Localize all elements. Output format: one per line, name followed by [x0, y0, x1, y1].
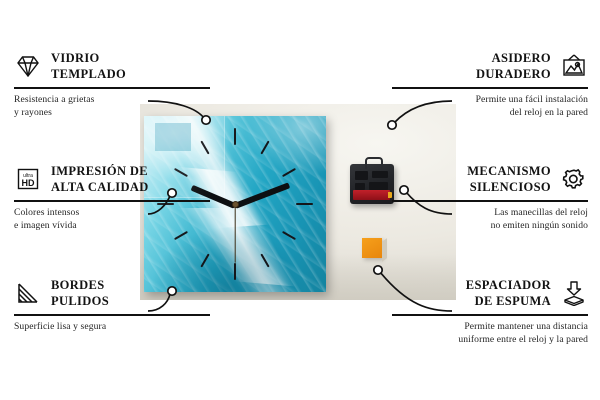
feature-title: IMPRESIÓN DE ALTA CALIDAD	[51, 163, 149, 195]
foam-spacer-piece	[362, 238, 382, 258]
diamond-icon	[14, 53, 42, 79]
foam-spacer-arrow-icon	[560, 280, 588, 306]
clock-tick-3	[296, 203, 313, 205]
clock-mechanism	[350, 164, 394, 204]
feature-title: ESPACIADOR DE ESPUMA	[466, 277, 551, 309]
feature-title: ASIDERO DURADERO	[476, 50, 551, 82]
svg-text:HD: HD	[22, 178, 35, 188]
feature-description: Las manecillas del reloj no emiten ningú…	[392, 207, 588, 233]
divider	[392, 314, 588, 316]
feature-title: MECANISMO SILENCIOSO	[467, 163, 551, 195]
clock-tick-12	[234, 128, 236, 145]
mechanism-battery	[353, 190, 390, 200]
gear-icon	[560, 166, 588, 192]
divider	[14, 314, 210, 316]
feature-espaciador-espuma[interactable]: ESPACIADOR DE ESPUMA Permite mantener un…	[392, 277, 588, 346]
polished-edges-icon	[14, 280, 42, 306]
divider	[14, 87, 210, 89]
infographic-canvas: VIDRIO TEMPLADO Resistencia a grietas y …	[0, 0, 600, 400]
clock-second-hand	[234, 205, 235, 263]
feature-description: Superficie lisa y segura	[14, 321, 210, 334]
ultra-hd-badge-icon: ultra HD	[14, 166, 42, 192]
feature-description: Colores intensos e imagen vívida	[14, 207, 210, 233]
feature-bordes-pulidos[interactable]: BORDES PULIDOS Superficie lisa y segura	[14, 277, 210, 334]
clock-center-pivot	[232, 201, 239, 208]
feature-title: VIDRIO TEMPLADO	[51, 50, 126, 82]
feature-impresion-alta-calidad[interactable]: ultra HD IMPRESIÓN DE ALTA CALIDAD Color…	[14, 163, 210, 232]
feature-asidero-duradero[interactable]: ASIDERO DURADERO Permite una fácil insta…	[392, 50, 588, 119]
feature-title: BORDES PULIDOS	[51, 277, 109, 309]
clock-tick-6	[234, 263, 236, 280]
divider	[392, 200, 588, 202]
feature-description: Resistencia a grietas y rayones	[14, 94, 210, 120]
picture-hanger-icon	[560, 53, 588, 79]
feature-mecanismo-silencioso[interactable]: MECANISMO SILENCIOSO Las manecillas del …	[392, 163, 588, 232]
feature-vidrio-templado[interactable]: VIDRIO TEMPLADO Resistencia a grietas y …	[14, 50, 210, 119]
feature-description: Permite una fácil instalación del reloj …	[392, 94, 588, 120]
divider	[392, 87, 588, 89]
feature-description: Permite mantener una distancia uniforme …	[392, 321, 588, 347]
mechanism-hanger-hook	[365, 157, 383, 169]
divider	[14, 200, 210, 202]
